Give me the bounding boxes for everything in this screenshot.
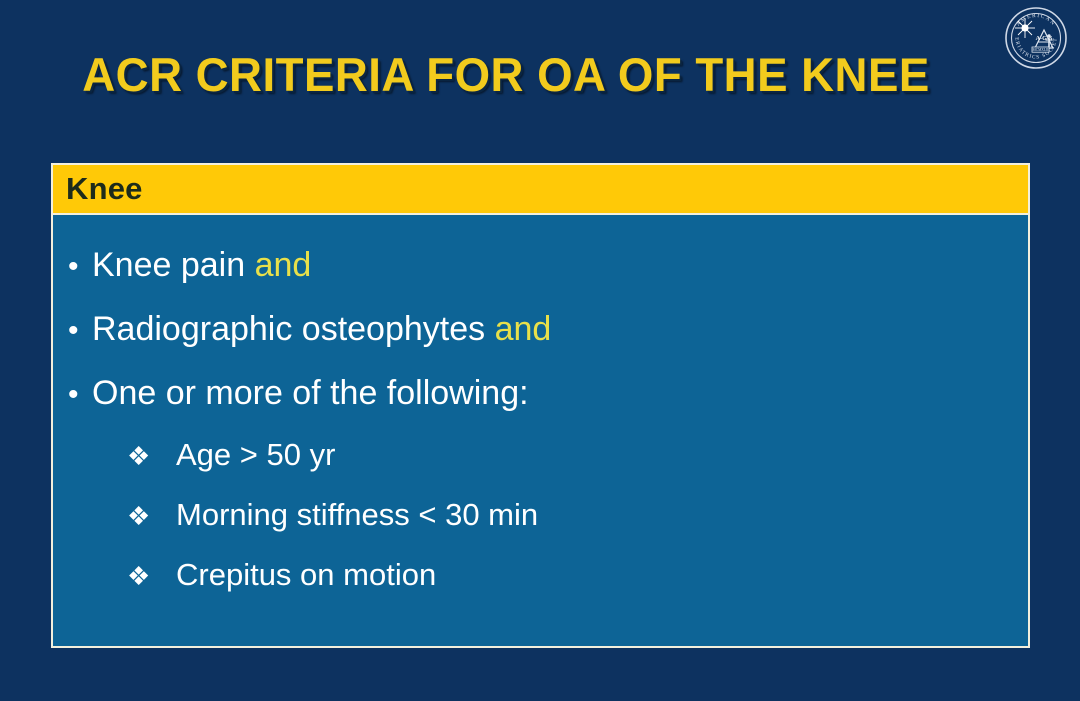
diamond-bullet-icon: ❖ xyxy=(127,426,176,486)
bullet-dot-icon: • xyxy=(68,235,92,299)
list-item-label: Knee pain xyxy=(92,246,255,284)
sub-list-item: ❖ Morning stiffness < 30 min xyxy=(53,485,1028,545)
sub-list-item: ❖ Crepitus on motion xyxy=(53,545,1028,605)
sub-list-item: ❖ Age > 50 yr xyxy=(53,425,1028,485)
diamond-bullet-icon: ❖ xyxy=(127,546,176,606)
criteria-table: Knee • Knee pain and • Radiographic oste… xyxy=(51,163,1030,648)
ags-seal-logo: AMERICAN GERIATRICS SOCIETY xyxy=(1004,6,1068,70)
list-item-text: One or more of the following: xyxy=(92,361,529,425)
list-item: • One or more of the following: xyxy=(53,361,1028,425)
svg-text:MCMXLII: MCMXLII xyxy=(1033,48,1050,52)
list-item-text: Knee pain and xyxy=(92,233,311,297)
list-item-label: One or more of the following: xyxy=(92,374,529,412)
slide-canvas: AMERICAN GERIATRICS SOCIETY xyxy=(0,0,1080,701)
table-body: • Knee pain and • Radiographic osteophyt… xyxy=(51,215,1030,648)
diamond-bullet-icon: ❖ xyxy=(127,486,176,546)
svg-text:A-G-S: A-G-S xyxy=(1036,35,1053,42)
conjunction-and: and xyxy=(495,310,552,348)
table-header-label: Knee xyxy=(66,172,143,206)
sub-list-item-label: Age > 50 yr xyxy=(176,425,335,485)
sub-list-item-label: Morning stiffness < 30 min xyxy=(176,485,538,545)
list-item-text: Radiographic osteophytes and xyxy=(92,297,551,361)
bullet-dot-icon: • xyxy=(68,299,92,363)
conjunction-and: and xyxy=(255,246,312,284)
bullet-dot-icon: • xyxy=(68,363,92,427)
page-title: ACR CRITERIA FOR OA OF THE KNEE xyxy=(15,45,997,105)
sub-list-item-label: Crepitus on motion xyxy=(176,545,436,605)
list-item: • Knee pain and xyxy=(53,233,1028,297)
list-item-label: Radiographic osteophytes xyxy=(92,310,495,348)
table-header-row: Knee xyxy=(51,163,1030,215)
list-item: • Radiographic osteophytes and xyxy=(53,297,1028,361)
